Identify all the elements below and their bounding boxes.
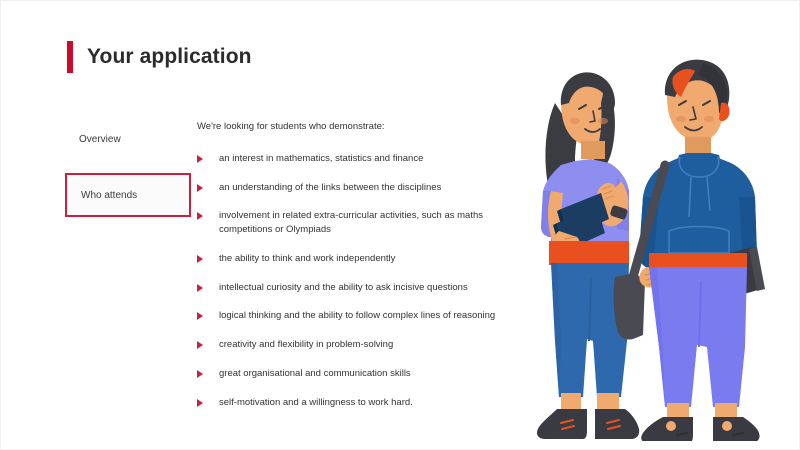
- list-item: involvement in related extra-curricular …: [197, 209, 527, 237]
- triangle-bullet-icon: [197, 155, 203, 163]
- list-item: an understanding of the links between th…: [197, 181, 527, 195]
- list-item-label: self-motivation and a willingness to wor…: [219, 396, 413, 410]
- title-label: Your application: [87, 45, 252, 69]
- content-panel: We're looking for students who demonstra…: [197, 121, 527, 424]
- list-item: the ability to think and work independen…: [197, 252, 527, 266]
- page-title: Your application: [67, 41, 252, 73]
- triangle-bullet-icon: [197, 284, 203, 292]
- nav-item-who-attends[interactable]: Who attends: [65, 173, 191, 217]
- list-item: creativity and flexibility in problem-so…: [197, 338, 527, 352]
- list-item: self-motivation and a willingness to wor…: [197, 396, 527, 410]
- triangle-bullet-icon: [197, 255, 203, 263]
- list-item-label: the ability to think and work independen…: [219, 252, 395, 266]
- list-item-label: intellectual curiosity and the ability t…: [219, 281, 468, 295]
- section-nav: Overview Who attends: [65, 119, 191, 217]
- triangle-bullet-icon: [197, 399, 203, 407]
- nav-item-overview-label: Overview: [79, 134, 121, 145]
- triangle-bullet-icon: [197, 312, 203, 320]
- slide: Your application Overview Who attends We…: [0, 0, 800, 450]
- list-item-label: an understanding of the links between th…: [219, 181, 441, 195]
- list-item-label: great organisational and communication s…: [219, 367, 411, 381]
- list-item: an interest in mathematics, statistics a…: [197, 152, 527, 166]
- female-student-figure: [537, 72, 639, 439]
- list-item: logical thinking and the ability to foll…: [197, 309, 527, 323]
- intro-text: We're looking for students who demonstra…: [197, 121, 527, 134]
- two-students-illustration: [517, 41, 797, 441]
- list-item-label: creativity and flexibility in problem-so…: [219, 338, 393, 352]
- nav-item-who-attends-label: Who attends: [81, 190, 137, 201]
- triangle-bullet-icon: [197, 212, 203, 220]
- list-item-label: logical thinking and the ability to foll…: [219, 309, 495, 323]
- list-item-label: an interest in mathematics, statistics a…: [219, 152, 423, 166]
- title-accent-bar: [67, 41, 73, 73]
- triangle-bullet-icon: [197, 341, 203, 349]
- triangle-bullet-icon: [197, 370, 203, 378]
- nav-item-overview[interactable]: Overview: [65, 119, 191, 159]
- triangle-bullet-icon: [197, 184, 203, 192]
- list-item: intellectual curiosity and the ability t…: [197, 281, 527, 295]
- list-item: great organisational and communication s…: [197, 367, 527, 381]
- list-item-label: involvement in related extra-curricular …: [219, 209, 519, 237]
- requirements-list: an interest in mathematics, statistics a…: [197, 152, 527, 410]
- male-student-figure: [614, 60, 765, 441]
